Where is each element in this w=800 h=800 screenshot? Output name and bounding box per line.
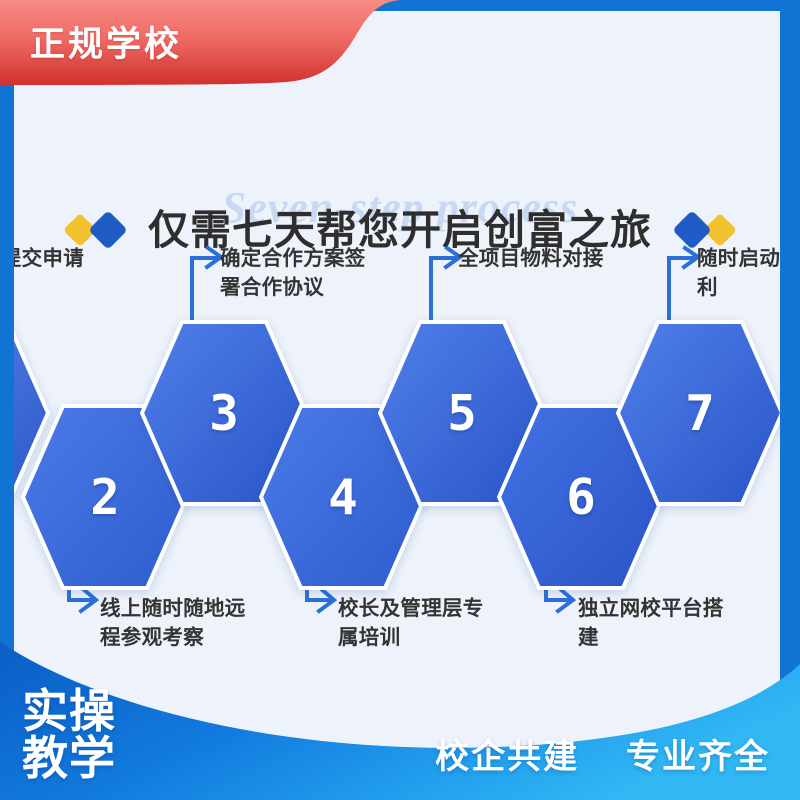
bottom-banner: 实操 教学 校企共建 专业齐全 (0, 620, 800, 800)
top-banner-label: 正规学校 (30, 16, 182, 67)
headline-section: Seven-step process 仅需七天帮您开启创富之旅 (0, 96, 800, 196)
bottom-banner-right-part1: 校企共建 (435, 738, 579, 776)
bottom-banner-left-text: 实操 教学 (22, 688, 116, 782)
step-label-3: 确定合作方案签署合作协议 (220, 244, 400, 302)
hexagon-step-7[interactable]: 7 (616, 320, 784, 506)
top-red-banner: 正规学校 (0, 0, 470, 92)
step-label-5: 全项目物料对接 (458, 244, 638, 273)
bottom-banner-right-text: 校企共建 专业齐全 (435, 729, 770, 778)
process-stage: 1 2 (0, 196, 800, 666)
bottom-banner-right-part2: 专业齐全 (626, 738, 770, 776)
infographic-page: 正规学校 Seven-step process 仅需七天帮您开启创富之旅 (0, 0, 800, 800)
bottom-banner-left-line2: 教学 (22, 735, 116, 782)
step-label-1: 线提交申请 (0, 244, 160, 273)
bottom-banner-left-line1: 实操 (22, 688, 116, 735)
hexagon-number-7: 7 (616, 320, 784, 506)
